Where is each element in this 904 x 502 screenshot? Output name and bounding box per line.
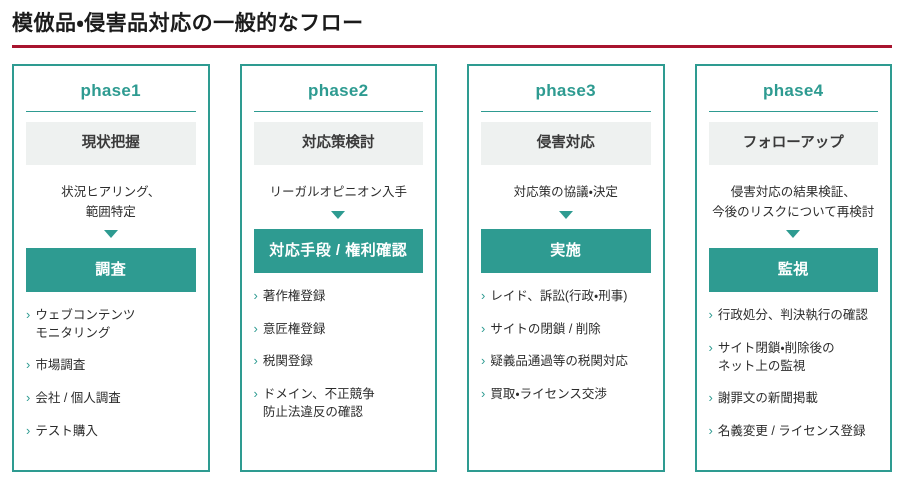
arrow-down-icon (559, 211, 573, 219)
list-item-label: 行政処分、判決執行の確認 (718, 306, 868, 324)
chevron-right-icon: › (254, 287, 258, 306)
phase-card-1: phase1 現状把握 状況ヒアリング、 範囲特定 調査 › ウェブコンテンツ … (12, 64, 210, 472)
list-item: › サイトの閉鎖 / 削除 (481, 320, 651, 339)
phase-label-1: phase1 (26, 76, 196, 111)
list-item-label: サイトの閉鎖 / 削除 (490, 320, 600, 338)
flow-diagram-page: 模倣品・侵害品対応の一般的なフロー phase1 現状把握 状況ヒアリング、 範… (0, 0, 904, 502)
list-item: › 疑義品通過等の税関対応 (481, 352, 651, 371)
stage-box-3: 侵害対応 (481, 122, 651, 165)
list-item-label: 買取・ライセンス交渉 (490, 385, 607, 403)
list-item: › 買取・ライセンス交渉 (481, 385, 651, 404)
phase-label-3: phase3 (481, 76, 651, 111)
list-item-label: 税関登録 (263, 352, 313, 370)
action-box-2: 対応手段 / 権利確認 (254, 229, 424, 273)
chevron-right-icon: › (481, 287, 485, 306)
list-item: › 税関登録 (254, 352, 424, 371)
list-item: › 著作権登録 (254, 287, 424, 306)
chevron-right-icon: › (26, 306, 30, 325)
arrow-down-icon (786, 230, 800, 238)
list-item-label: レイド、訴訟(行政・刑事) (490, 287, 627, 305)
phase-label-4: phase4 (709, 76, 879, 111)
list-item-label: 謝罪文の新聞掲載 (718, 389, 818, 407)
stage-description-4: 侵害対応の結果検証、 今後のリスクについて再検討 (709, 165, 879, 230)
title-block: 模倣品・侵害品対応の一般的なフロー (0, 0, 904, 48)
list-item: › 意匠権登録 (254, 320, 424, 339)
chevron-right-icon: › (481, 385, 485, 404)
list-item: › 市場調査 (26, 356, 196, 375)
chevron-right-icon: › (26, 389, 30, 408)
list-item-label: 意匠権登録 (263, 320, 326, 338)
item-list-1: › ウェブコンテンツ モニタリング › 市場調査 › 会社 / 個人調査 › テ… (26, 306, 196, 441)
list-item: › テスト購入 (26, 422, 196, 441)
chevron-right-icon: › (254, 320, 258, 339)
action-box-3: 実施 (481, 229, 651, 273)
list-item-label: ドメイン、不正競争 防止法違反の確認 (263, 385, 375, 421)
chevron-right-icon: › (26, 356, 30, 375)
list-item-label: サイト閉鎖・削除後の ネット上の監視 (718, 339, 835, 375)
arrow-down-icon (331, 211, 345, 219)
list-item: › 行政処分、判決執行の確認 (709, 306, 879, 325)
list-item: › ドメイン、不正競争 防止法違反の確認 (254, 385, 424, 421)
stage-box-2: 対応策検討 (254, 122, 424, 165)
phase-divider-3 (481, 111, 651, 112)
chevron-right-icon: › (254, 385, 258, 404)
list-item-label: ウェブコンテンツ モニタリング (35, 306, 135, 342)
phase-card-2: phase2 対応策検討 リーガルオピニオン入手 対応手段 / 権利確認 › 著… (240, 64, 438, 472)
list-item: › 名義変更 / ライセンス登録 (709, 422, 879, 441)
action-box-4: 監視 (709, 248, 879, 292)
chevron-right-icon: › (709, 306, 713, 325)
page-title: 模倣品・侵害品対応の一般的なフロー (12, 10, 892, 37)
list-item: › ウェブコンテンツ モニタリング (26, 306, 196, 342)
stage-box-1: 現状把握 (26, 122, 196, 165)
list-item: › 謝罪文の新聞掲載 (709, 389, 879, 408)
stage-box-4: フォローアップ (709, 122, 879, 165)
arrow-down-icon (104, 230, 118, 238)
chevron-right-icon: › (26, 422, 30, 441)
chevron-right-icon: › (481, 352, 485, 371)
list-item: › サイト閉鎖・削除後の ネット上の監視 (709, 339, 879, 375)
list-item-label: 著作権登録 (263, 287, 326, 305)
chevron-right-icon: › (254, 352, 258, 371)
stage-description-1: 状況ヒアリング、 範囲特定 (26, 165, 196, 230)
chevron-right-icon: › (709, 389, 713, 408)
list-item-label: 名義変更 / ライセンス登録 (718, 422, 866, 440)
phase-cards-container: phase1 現状把握 状況ヒアリング、 範囲特定 調査 › ウェブコンテンツ … (0, 48, 904, 472)
phase-card-3: phase3 侵害対応 対応策の協議・決定 実施 › レイド、訴訟(行政・刑事)… (467, 64, 665, 472)
item-list-4: › 行政処分、判決執行の確認 › サイト閉鎖・削除後の ネット上の監視 › 謝罪… (709, 306, 879, 441)
phase-label-2: phase2 (254, 76, 424, 111)
stage-description-3: 対応策の協議・決定 (481, 165, 651, 210)
chevron-right-icon: › (481, 320, 485, 339)
list-item-label: 会社 / 個人調査 (35, 389, 120, 407)
phase-divider-2 (254, 111, 424, 112)
phase-card-4: phase4 フォローアップ 侵害対応の結果検証、 今後のリスクについて再検討 … (695, 64, 893, 472)
list-item: › レイド、訴訟(行政・刑事) (481, 287, 651, 306)
chevron-right-icon: › (709, 422, 713, 441)
phase-divider-1 (26, 111, 196, 112)
stage-description-2: リーガルオピニオン入手 (254, 165, 424, 210)
list-item-label: 市場調査 (35, 356, 85, 374)
list-item-label: テスト購入 (35, 422, 98, 440)
phase-divider-4 (709, 111, 879, 112)
action-box-1: 調査 (26, 248, 196, 292)
item-list-2: › 著作権登録 › 意匠権登録 › 税関登録 › ドメイン、不正競争 防止法違反… (254, 287, 424, 422)
list-item-label: 疑義品通過等の税関対応 (490, 352, 628, 370)
list-item: › 会社 / 個人調査 (26, 389, 196, 408)
chevron-right-icon: › (709, 339, 713, 358)
item-list-3: › レイド、訴訟(行政・刑事) › サイトの閉鎖 / 削除 › 疑義品通過等の税… (481, 287, 651, 404)
